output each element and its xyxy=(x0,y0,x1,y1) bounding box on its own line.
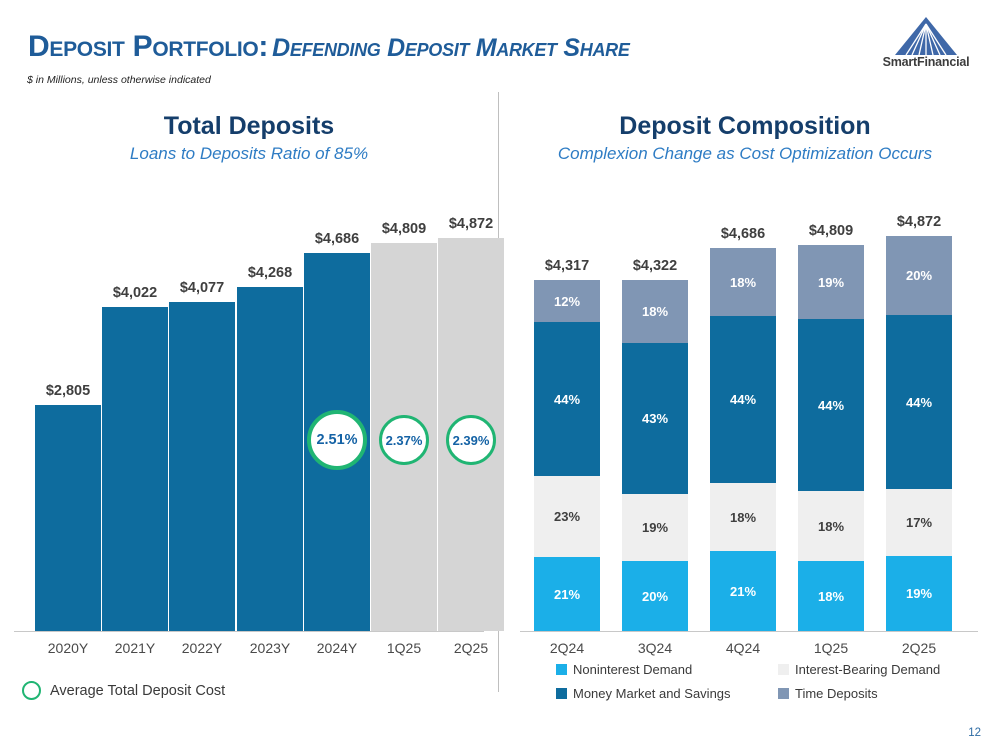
segment-noninterest-demand: 21% xyxy=(534,557,600,631)
right-chart-axis xyxy=(520,631,978,632)
legend-item-noninterest-demand: Noninterest Demand xyxy=(556,662,692,677)
page-title-main: Deposit Portfolio: xyxy=(28,30,268,63)
x-tick-4q24: 4Q24 xyxy=(696,640,790,656)
x-tick-2q25: 2Q25 xyxy=(872,640,966,656)
bar-total-label: $4,686 xyxy=(696,226,790,242)
deposit-bar-1q25: $4,809 xyxy=(371,186,437,631)
page-title: Deposit Portfolio:Defending Deposit Mark… xyxy=(28,30,630,64)
left-chart-subtitle: Loans to Deposits Ratio of 85% xyxy=(14,144,484,164)
legend-label: Money Market and Savings xyxy=(573,686,731,701)
bar-total-label: $4,809 xyxy=(784,223,878,239)
units-note: $ in Millions, unless otherwise indicate… xyxy=(27,74,211,86)
segment-noninterest-demand: 20% xyxy=(622,561,688,631)
legend-swatch-icon xyxy=(778,688,789,699)
bar-rect xyxy=(237,287,303,631)
total-deposits-chart: $2,805$4,022$4,077$4,268$4,686$4,809$4,8… xyxy=(14,186,484,631)
deposit-bar-2020y: $2,805 xyxy=(35,186,101,631)
segment-time-deposits: 20% xyxy=(886,236,952,315)
bar-total-label: $4,317 xyxy=(520,258,614,274)
bar-value-label: $4,268 xyxy=(223,265,317,281)
segment-time-deposits: 18% xyxy=(710,248,776,316)
x-tick-1q25: 1Q25 xyxy=(784,640,878,656)
segment-noninterest-demand: 18% xyxy=(798,561,864,631)
legend-swatch-icon xyxy=(778,664,789,675)
slide-header: Deposit Portfolio:Defending Deposit Mark… xyxy=(0,0,999,96)
segment-interest-bearing-demand: 18% xyxy=(710,483,776,551)
segment-time-deposits: 19% xyxy=(798,245,864,319)
segment-money-market-and-savings: 44% xyxy=(798,319,864,491)
legend-label: Interest-Bearing Demand xyxy=(795,662,940,677)
segment-interest-bearing-demand: 18% xyxy=(798,491,864,561)
legend-item-time-deposits: Time Deposits xyxy=(778,686,878,701)
page-number: 12 xyxy=(968,727,981,739)
composition-legend: Noninterest DemandInterest-Bearing Deman… xyxy=(520,662,980,710)
company-logo: SmartFinancial xyxy=(867,17,985,73)
segment-time-deposits: 12% xyxy=(534,280,600,322)
bar-total-label: $4,322 xyxy=(608,258,702,274)
deposit-cost-marker-2024y: 2.51% xyxy=(307,410,367,470)
deposit-cost-marker-2q25: 2.39% xyxy=(446,415,496,465)
composition-bar-1q25: 18%18%44%19%$4,809 xyxy=(798,186,864,631)
deposit-bar-2024y: $4,686 xyxy=(304,186,370,631)
legend-item-money-market-and-savings: Money Market and Savings xyxy=(556,686,731,701)
legend-item-interest-bearing-demand: Interest-Bearing Demand xyxy=(778,662,940,677)
left-chart-title: Total Deposits xyxy=(14,112,484,141)
circle-marker-icon xyxy=(22,681,41,700)
bar-rect xyxy=(169,302,235,631)
left-chart-axis xyxy=(14,631,484,632)
composition-bar-4q24: 21%18%44%18%$4,686 xyxy=(710,186,776,631)
composition-bar-2q25: 19%17%44%20%$4,872 xyxy=(886,186,952,631)
segment-money-market-and-savings: 44% xyxy=(886,315,952,489)
logo-wordmark: SmartFinancial xyxy=(867,55,985,69)
x-tick-3q24: 3Q24 xyxy=(608,640,702,656)
bar-value-label: $4,077 xyxy=(155,280,249,296)
segment-noninterest-demand: 21% xyxy=(710,551,776,631)
bar-rect xyxy=(35,405,101,631)
deposit-bar-2022y: $4,077 xyxy=(169,186,235,631)
right-chart-title: Deposit Composition xyxy=(510,112,980,141)
deposit-bar-2q25: $4,872 xyxy=(438,186,504,631)
deposit-cost-marker-1q25: 2.37% xyxy=(379,415,429,465)
deposit-cost-legend-label: Average Total Deposit Cost xyxy=(50,683,225,699)
composition-bar-2q24: 21%23%44%12%$4,317 xyxy=(534,186,600,631)
segment-noninterest-demand: 19% xyxy=(886,556,952,631)
legend-swatch-icon xyxy=(556,664,567,675)
bar-value-label: $2,805 xyxy=(21,383,115,399)
legend-label: Noninterest Demand xyxy=(573,662,692,677)
deposit-cost-legend: Average Total Deposit Cost xyxy=(22,681,225,700)
segment-interest-bearing-demand: 19% xyxy=(622,494,688,561)
bar-rect xyxy=(102,307,168,631)
x-tick-2q25: 2Q25 xyxy=(424,640,518,656)
segment-interest-bearing-demand: 17% xyxy=(886,489,952,556)
segment-money-market-and-savings: 44% xyxy=(710,316,776,483)
right-chart-subtitle: Complexion Change as Cost Optimization O… xyxy=(510,144,980,164)
segment-money-market-and-savings: 43% xyxy=(622,343,688,494)
segment-interest-bearing-demand: 23% xyxy=(534,476,600,557)
deposit-composition-chart: 21%23%44%12%$4,31720%19%43%18%$4,32221%1… xyxy=(520,186,980,631)
deposit-bar-2021y: $4,022 xyxy=(102,186,168,631)
segment-money-market-and-savings: 44% xyxy=(534,322,600,476)
deposit-bar-2023y: $4,268 xyxy=(237,186,303,631)
legend-label: Time Deposits xyxy=(795,686,878,701)
x-tick-2q24: 2Q24 xyxy=(520,640,614,656)
smartfinancial-triangle-icon xyxy=(895,17,957,55)
page-title-sub: Defending Deposit Market Share xyxy=(272,34,629,62)
bar-total-label: $4,872 xyxy=(872,214,966,230)
bar-value-label: $4,872 xyxy=(424,216,518,232)
legend-swatch-icon xyxy=(556,688,567,699)
composition-bar-3q24: 20%19%43%18%$4,322 xyxy=(622,186,688,631)
segment-time-deposits: 18% xyxy=(622,280,688,343)
